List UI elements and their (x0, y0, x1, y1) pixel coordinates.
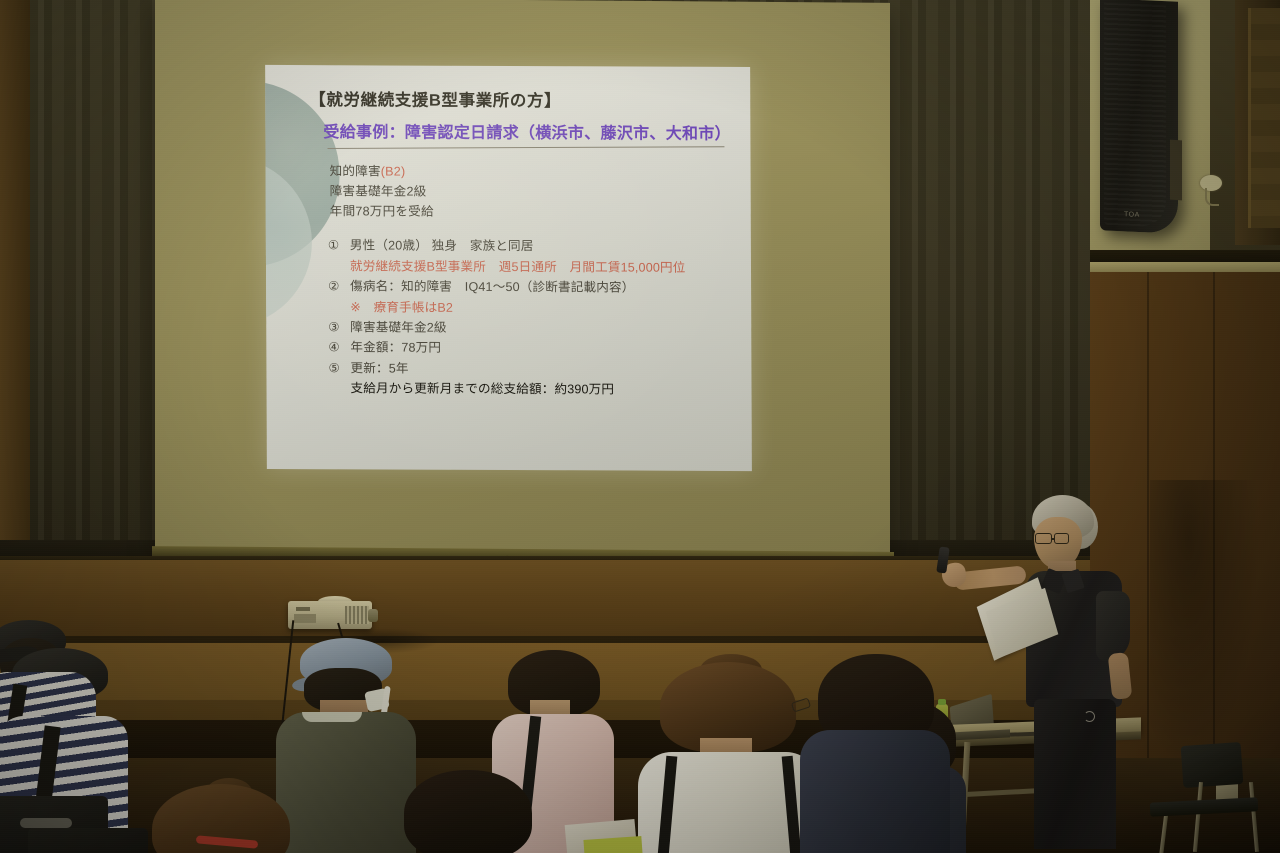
shoulder-bag (28, 828, 148, 853)
summary-line: 知的障害(B2) (330, 162, 733, 184)
bag-logo (20, 818, 72, 828)
list-item: ⑤ 更新：5年 支給月から更新月までの総支給額：約390万円 (328, 358, 733, 401)
list-item-subtext: 支給月から更新月までの総支給額：約390万円 (350, 379, 733, 401)
list-item-subtext: ※ 療育手帳はB2 (350, 297, 733, 319)
stage-trim (0, 636, 1090, 643)
summary-line-text: 障害基礎年金2級 (330, 184, 427, 198)
audience-member-shirt (276, 712, 416, 853)
empty-chair-back (1181, 742, 1244, 788)
speaker-grille (1104, 3, 1166, 228)
list-item: ① 男性（20歳） 独身 家族と同居 就労継続支援B型事業所 週5日通所 月間工… (328, 236, 733, 279)
presenter-trousers (1034, 699, 1116, 849)
chair-back (396, 689, 483, 714)
summary-line-text: 年間78万円を受給 (330, 204, 434, 218)
chair-back (947, 756, 1045, 829)
slide-subheading: 受給事例：障害認定日請求（横浜市、藤沢市、大和市） (323, 123, 732, 145)
glasses-bridge (1052, 538, 1055, 540)
list-item-text: 男性（20歳） 独身 家族と同居 (350, 236, 534, 257)
trouser-loop-detail (1084, 711, 1095, 722)
presenter-right-sleeve (1096, 591, 1130, 661)
glasses-icon (1035, 533, 1052, 544)
summary-line-suffix: (B2) (381, 164, 406, 178)
slide-divider (327, 146, 724, 149)
speaker-brand-label: TOA (1124, 211, 1164, 223)
green-notebook (583, 836, 642, 853)
presenter-shadow-on-wall (1150, 480, 1260, 770)
audience-member-shirt (800, 730, 950, 853)
list-item: ④ 年金額：78万円 (328, 338, 733, 360)
list-item-number: ③ (328, 317, 350, 337)
wall-hanging-scroll (1248, 8, 1280, 228)
projector-lens (368, 609, 378, 622)
list-item-text: 障害基礎年金2級 (350, 317, 446, 338)
list-item-text: 更新：5年 (350, 358, 408, 379)
list-item-text: 傷病名：知的障害 IQ41〜50（診断書記載内容） (350, 277, 634, 299)
list-item: ③ 障害基礎年金2級 (328, 317, 733, 339)
slide-heading: 【就労継続支援B型事業所の方】 (309, 91, 732, 113)
bottle-cap (938, 699, 946, 705)
projector-indicator-lights (296, 607, 310, 611)
audience-member-collar (302, 712, 362, 722)
seminar-room-photo: TOA 【就労継続支援B型事業所の方】 受給事例：障害認定日請求（横浜市、藤沢市… (0, 0, 1280, 853)
list-item-number: ⑤ (328, 358, 350, 378)
list-item-number: ② (328, 276, 350, 296)
list-item-number: ① (328, 236, 350, 256)
glasses-icon (1054, 533, 1069, 544)
projector-label (294, 614, 316, 623)
wall-fixture-cord (1205, 188, 1219, 206)
audience-member-hair (404, 770, 532, 853)
projector-vents (345, 606, 369, 624)
projected-slide: 【就労継続支援B型事業所の方】 受給事例：障害認定日請求（横浜市、藤沢市、大和市… (265, 65, 752, 471)
summary-line: 年間78万円を受給 (330, 202, 733, 224)
list-item-number: ④ (328, 338, 350, 358)
chair-back (117, 752, 190, 784)
list-item-text: 年金額：78万円 (350, 338, 441, 359)
presenter-right-forearm (1108, 652, 1133, 700)
list-item-subtext: 就労継続支援B型事業所 週5日通所 月間工賃15,000円位 (350, 256, 733, 278)
slide-content: 【就労継続支援B型事業所の方】 受給事例：障害認定日請求（横浜市、藤沢市、大和市… (265, 65, 751, 401)
summary-line-text: 知的障害 (330, 164, 381, 178)
list-item: ② 傷病名：知的障害 IQ41〜50（診断書記載内容） ※ 療育手帳はB2 (328, 276, 733, 319)
summary-line: 障害基礎年金2級 (330, 182, 733, 204)
speaker-mount-bracket (1170, 140, 1182, 201)
slide-numbered-list: ① 男性（20歳） 独身 家族と同居 就労継続支援B型事業所 週5日通所 月間工… (328, 236, 734, 401)
slide-summary-block: 知的障害(B2) 障害基礎年金2級 年間78万円を受給 (330, 162, 733, 223)
stage-left-wood-post (0, 0, 30, 600)
stage-front-panel (0, 560, 1090, 642)
